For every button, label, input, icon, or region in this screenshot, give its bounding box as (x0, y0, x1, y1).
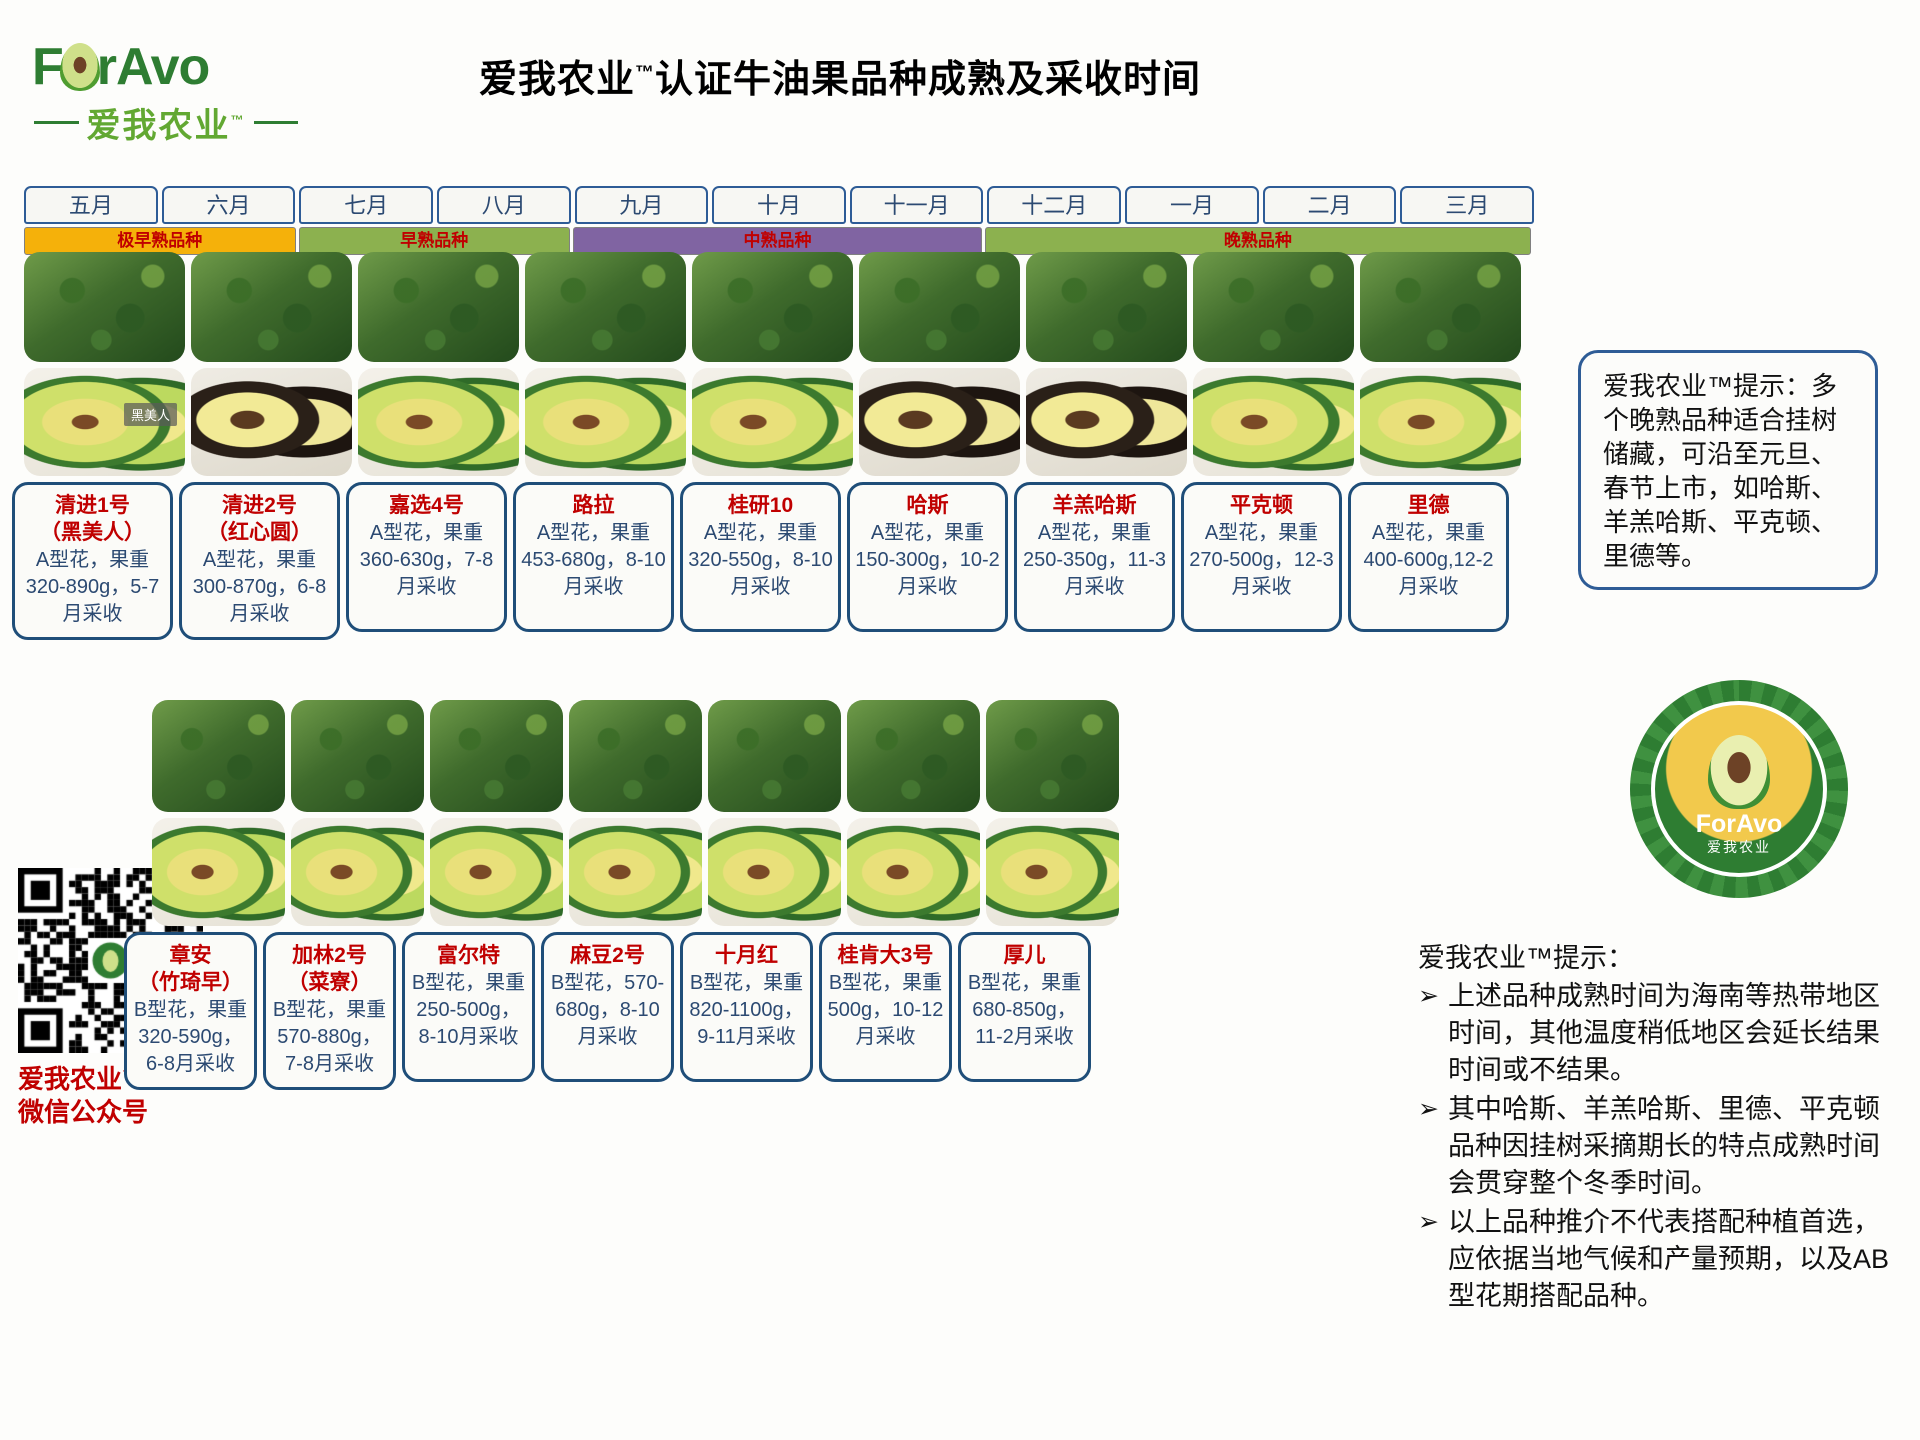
variety-card[interactable]: 厚儿B型花，果重680-850g，11-2月采收 (958, 932, 1091, 1082)
logo-rule-right (254, 121, 299, 124)
seal-inner: ForAvo 爱我农业 (1651, 701, 1827, 877)
month-cell-11: 三月 (1400, 186, 1534, 224)
variety-name: 平克顿 (1189, 492, 1334, 519)
cut-photo-guikenda3 (847, 818, 980, 926)
variety-description: B型花，570-680g，8-10月采收 (549, 970, 666, 1051)
tree-photo-qingjin1 (24, 252, 185, 362)
bottom-tip-text: 其中哈斯、羊羔哈斯、里德、平克顿品种因挂树采摘期长的特点成熟时间会贯穿整个冬季时… (1448, 1091, 1904, 1202)
variety-name: 厚儿 (966, 942, 1083, 969)
month-cell-9: 一月 (1125, 186, 1259, 224)
variety-description: A型花，果重300-870g，6-8月采收 (187, 547, 332, 628)
variety-description: B型花，果重500g，10-12月采收 (827, 970, 944, 1051)
bottom-tip-text: 以上品种推介不代表搭配种植首选，应依据当地气候和产量预期，以及AB型花期搭配品种… (1448, 1204, 1904, 1315)
month-cell-7: 十一月 (850, 186, 984, 224)
variety-card[interactable]: 路拉A型花，果重453-680g，8-10月采收 (513, 482, 674, 632)
page-title: 爱我农业™认证牛油果品种成熟及采收时间 (330, 48, 1350, 103)
variety-description: B型花，果重820-1100g，9-11月采收 (688, 970, 805, 1051)
bottom-tip-item: ➢以上品种推介不代表搭配种植首选，应依据当地气候和产量预期，以及AB型花期搭配品… (1418, 1204, 1904, 1315)
category-bar-4: 晚熟品种 (985, 227, 1531, 255)
variety-alias: （竹琦早） (132, 969, 249, 996)
variety-description: A型花，果重320-550g，8-10月采收 (688, 520, 833, 601)
brand-logo: FrAvo 爱我农业™ (28, 36, 298, 146)
variety-description: B型花，果重680-850g，11-2月采收 (966, 970, 1083, 1051)
cut-photo-yanggaohass (1026, 368, 1187, 476)
variety-name: 桂研10 (688, 492, 833, 519)
seal-avocado-icon (1708, 735, 1770, 809)
variety-name: 章安 (132, 942, 249, 969)
cut-photo-qingjin1: 黑美人 (24, 368, 185, 476)
cut-photo-lula (525, 368, 686, 476)
variety-description: A型花，果重453-680g，8-10月采收 (521, 520, 666, 601)
logo-chinese-name: 爱我农业™ (87, 98, 246, 147)
variety-name: 麻豆2号 (549, 942, 666, 969)
cut-photo-houer (986, 818, 1119, 926)
tree-photo-zhangan (152, 700, 285, 812)
seal-wordmark: ForAvo (1696, 811, 1783, 837)
month-cell-4: 八月 (437, 186, 571, 224)
qr-caption-line2: 微信公众号 (18, 1096, 208, 1129)
logo-wordmark: FrAvo (28, 36, 298, 96)
tree-photo-hass (859, 252, 1020, 362)
bottom-tips-list: ➢上述品种成熟时间为海南等热带地区时间，其他温度稍低地区会延长结果时间或不结果。… (1418, 978, 1904, 1315)
row1-cut-photo-strip: 黑美人 (24, 368, 1521, 476)
variety-name: 嘉选4号 (354, 492, 499, 519)
bullet-arrow-icon: ➢ (1418, 1204, 1439, 1315)
variety-card[interactable]: 平克顿A型花，果重270-500g，12-3月采收 (1181, 482, 1342, 632)
tree-photo-guiyan10 (692, 252, 853, 362)
late-variety-tip-box: 爱我农业™提示：多个晚熟品种适合挂树储藏，可沿至元旦、春节上市，如哈斯、羊羔哈斯… (1578, 350, 1878, 590)
month-cell-8: 十二月 (987, 186, 1121, 224)
bottom-tips-heading: 爱我农业™提示： (1418, 940, 1904, 976)
tree-photo-reed (1360, 252, 1521, 362)
cut-photo-pinkerton (1193, 368, 1354, 476)
tree-photo-shiyuehong (708, 700, 841, 812)
bullet-arrow-icon: ➢ (1418, 1091, 1439, 1202)
cut-photo-reed (1360, 368, 1521, 476)
variety-description: A型花，果重360-630g，7-8月采收 (354, 520, 499, 601)
variety-card[interactable]: 桂研10A型花，果重320-550g，8-10月采收 (680, 482, 841, 632)
variety-description: A型花，果重320-890g，5-7月采收 (20, 547, 165, 628)
cut-photo-hass (859, 368, 1020, 476)
variety-name: 哈斯 (855, 492, 1000, 519)
bullet-arrow-icon: ➢ (1418, 978, 1439, 1089)
bottom-tip-text: 上述品种成熟时间为海南等热带地区时间，其他温度稍低地区会延长结果时间或不结果。 (1448, 978, 1904, 1089)
variety-card[interactable]: 清进1号（黑美人）A型花，果重320-890g，5-7月采收 (12, 482, 173, 640)
row2-cut-photo-strip (152, 818, 1119, 926)
variety-name: 十月红 (688, 942, 805, 969)
tree-photo-madou2 (569, 700, 702, 812)
category-bar-1: 极早熟品种 (24, 227, 296, 255)
tree-photo-houer (986, 700, 1119, 812)
page-header: FrAvo 爱我农业™ 爱我农业™认证牛油果品种成熟及采收时间 (0, 0, 1920, 165)
variety-description: B型花，果重320-590g，6-8月采收 (132, 997, 249, 1078)
logo-rule-left (34, 121, 79, 124)
tree-photo-jiaxuan4 (358, 252, 519, 362)
variety-card[interactable]: 麻豆2号B型花，570-680g，8-10月采收 (541, 932, 674, 1082)
month-timeline: 五月六月七月八月九月十月十一月十二月一月二月三月 极早熟品种早熟品种中熟品种晚熟… (24, 186, 1534, 255)
category-bar-3: 中熟品种 (573, 227, 982, 255)
variety-name: 清进2号 (187, 492, 332, 519)
variety-name: 路拉 (521, 492, 666, 519)
tree-photo-lula (525, 252, 686, 362)
brand-seal-badge: ForAvo 爱我农业 (1630, 680, 1848, 898)
row1-tree-photo-strip (24, 252, 1521, 362)
tip-box-text: 爱我农业™提示：多个晚熟品种适合挂树储藏，可沿至元旦、春节上市，如哈斯、羊羔哈斯… (1603, 369, 1861, 573)
variety-alias: （黑美人） (20, 519, 165, 546)
category-bar-2: 早熟品种 (299, 227, 571, 255)
bottom-tips-block: 爱我农业™提示： ➢上述品种成熟时间为海南等热带地区时间，其他温度稍低地区会延长… (1418, 940, 1904, 1315)
variety-card[interactable]: 羊羔哈斯A型花，果重250-350g，11-3月采收 (1014, 482, 1175, 632)
variety-description: B型花，果重570-880g，7-8月采收 (271, 997, 388, 1078)
variety-name: 清进1号 (20, 492, 165, 519)
variety-description: B型花，果重250-500g，8-10月采收 (410, 970, 527, 1051)
cut-photo-guiyan10 (692, 368, 853, 476)
variety-name: 富尔特 (410, 942, 527, 969)
cut-photo-shiyuehong (708, 818, 841, 926)
row2-variety-card-row: 章安（竹琦早）B型花，果重320-590g，6-8月采收加林2号（菜寮）B型花，… (124, 932, 1091, 1090)
month-cell-2: 六月 (162, 186, 296, 224)
variety-card[interactable]: 十月红B型花，果重820-1100g，9-11月采收 (680, 932, 813, 1082)
cut-photo-jialin2 (291, 818, 424, 926)
variety-card[interactable]: 加林2号（菜寮）B型花，果重570-880g，7-8月采收 (263, 932, 396, 1090)
tree-photo-guikenda3 (847, 700, 980, 812)
tree-photo-jialin2 (291, 700, 424, 812)
logo-subtitle: 爱我农业™ (28, 98, 298, 147)
row1-variety-card-row: 清进1号（黑美人）A型花，果重320-890g，5-7月采收清进2号（红心圆）A… (12, 482, 1509, 640)
avocado-icon (60, 43, 100, 91)
variety-card[interactable]: 章安（竹琦早）B型花，果重320-590g，6-8月采收 (124, 932, 257, 1090)
variety-card[interactable]: 富尔特B型花，果重250-500g，8-10月采收 (402, 932, 535, 1082)
tree-photo-pinkerton (1193, 252, 1354, 362)
variety-description: A型花，果重250-350g，11-3月采收 (1022, 520, 1167, 601)
cut-photo-madou2 (569, 818, 702, 926)
tree-photo-qingjin2 (191, 252, 352, 362)
bottom-tip-item: ➢其中哈斯、羊羔哈斯、里德、平克顿品种因挂树采摘期长的特点成熟时间会贯穿整个冬季… (1418, 1091, 1904, 1202)
month-cell-10: 二月 (1263, 186, 1397, 224)
cut-photo-zhangan (152, 818, 285, 926)
variety-alias: （红心圆） (187, 519, 332, 546)
variety-card[interactable]: 嘉选4号A型花，果重360-630g，7-8月采收 (346, 482, 507, 632)
month-cell-5: 九月 (575, 186, 709, 224)
variety-name: 桂肯大3号 (827, 942, 944, 969)
row2-tree-photo-strip (152, 700, 1119, 812)
variety-name: 羊羔哈斯 (1022, 492, 1167, 519)
month-header-row: 五月六月七月八月九月十月十一月十二月一月二月三月 (24, 186, 1534, 224)
photo-tag: 黑美人 (124, 403, 177, 426)
month-cell-3: 七月 (299, 186, 433, 224)
variety-card[interactable]: 里德A型花，果重400-600g,12-2月采收 (1348, 482, 1509, 632)
cut-photo-fuerte (430, 818, 563, 926)
seal-chinese-name: 爱我农业 (1707, 837, 1771, 857)
month-cell-6: 十月 (712, 186, 846, 224)
variety-alias: （菜寮） (271, 969, 388, 996)
variety-card[interactable]: 哈斯A型花，果重150-300g，10-2月采收 (847, 482, 1008, 632)
variety-description: A型花，果重270-500g，12-3月采收 (1189, 520, 1334, 601)
variety-name: 里德 (1356, 492, 1501, 519)
variety-card[interactable]: 清进2号（红心圆）A型花，果重300-870g，6-8月采收 (179, 482, 340, 640)
bottom-tip-item: ➢上述品种成熟时间为海南等热带地区时间，其他温度稍低地区会延长结果时间或不结果。 (1418, 978, 1904, 1089)
variety-description: A型花，果重150-300g，10-2月采收 (855, 520, 1000, 601)
variety-description: A型花，果重400-600g,12-2月采收 (1356, 520, 1501, 601)
cut-photo-jiaxuan4 (358, 368, 519, 476)
tree-photo-yanggaohass (1026, 252, 1187, 362)
cut-photo-qingjin2 (191, 368, 352, 476)
month-cell-1: 五月 (24, 186, 158, 224)
variety-card[interactable]: 桂肯大3号B型花，果重500g，10-12月采收 (819, 932, 952, 1082)
variety-name: 加林2号 (271, 942, 388, 969)
maturity-category-row: 极早熟品种早熟品种中熟品种晚熟品种 (24, 227, 1534, 255)
tree-photo-fuerte (430, 700, 563, 812)
